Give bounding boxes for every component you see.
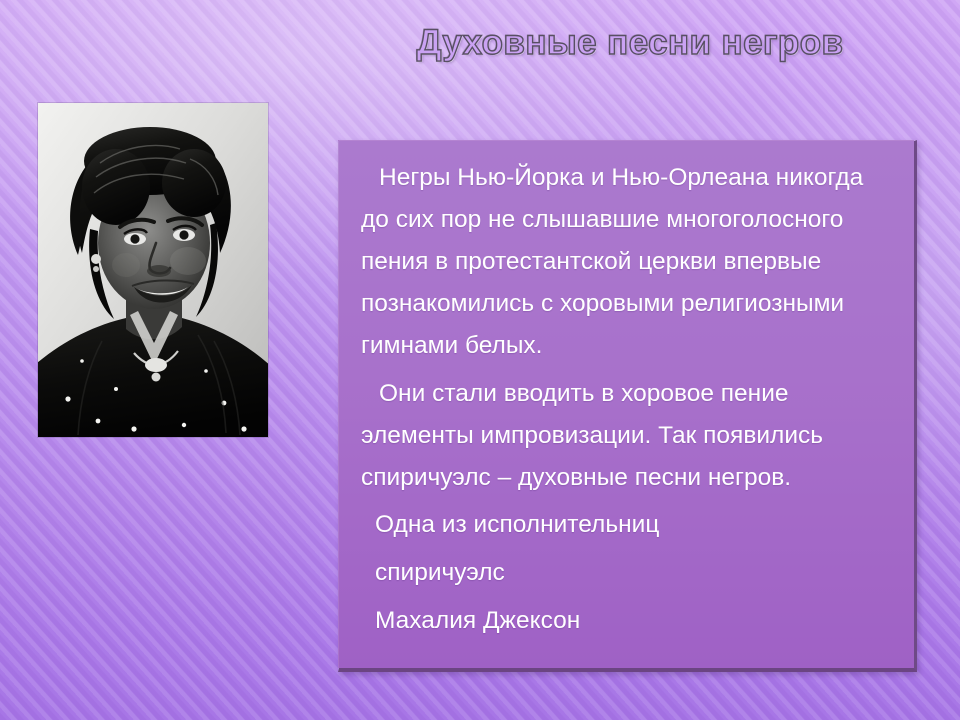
body-paragraph-2: Они стали вводить в хоровое пение элемен… xyxy=(361,373,896,499)
slide-title: Духовные песни негров xyxy=(330,22,930,64)
closing-line-1: Одна из исполнительниц xyxy=(361,503,896,547)
portrait-photo-image xyxy=(38,103,268,437)
closing-line-2: спиричуэлс xyxy=(361,551,896,595)
portrait-photo xyxy=(38,103,268,437)
closing-line-3: Махалия Джексон xyxy=(361,599,896,643)
body-paragraph-1: Негры Нью-Йорка и Нью-Орлеана никогда до… xyxy=(361,157,896,367)
content-textbox: Негры Нью-Йорка и Нью-Орлеана никогда до… xyxy=(338,140,917,672)
slide-canvas: Духовные песни негров xyxy=(0,0,960,720)
